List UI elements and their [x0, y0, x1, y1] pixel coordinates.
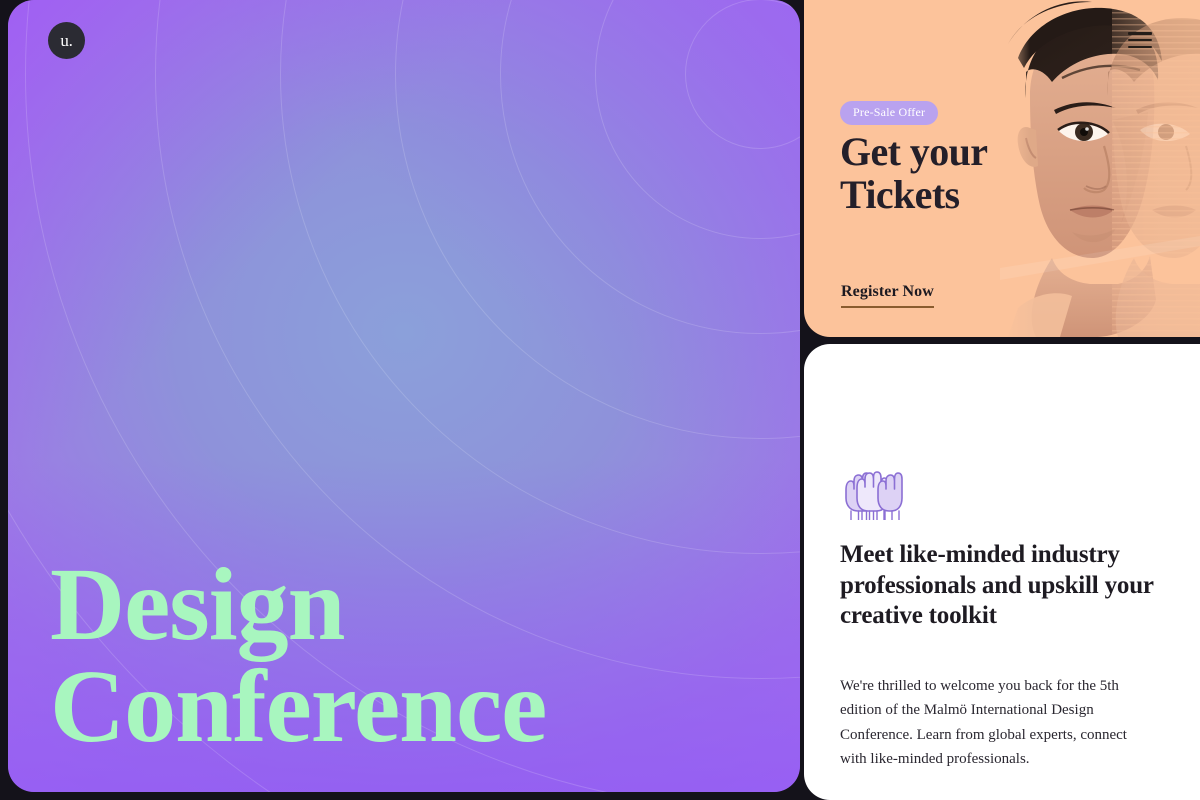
hamburger-line-2	[1128, 39, 1152, 42]
brand-monogram-icon: u.	[60, 31, 72, 51]
hamburger-menu-icon[interactable]	[1128, 32, 1152, 48]
ring-4	[395, 0, 800, 439]
right-column: Pre-Sale Offer Get your Tickets Register…	[804, 0, 1200, 800]
hero-panel: u. Design Conference	[8, 0, 800, 792]
info-card: Meet like-minded industry professionals …	[804, 344, 1200, 800]
hamburger-line-3	[1128, 46, 1152, 49]
register-now-link[interactable]: Register Now	[841, 283, 934, 308]
hamburger-line-1	[1128, 32, 1152, 35]
page-canvas: u. Design Conference	[0, 0, 1200, 800]
info-heading: Meet like-minded industry professionals …	[840, 540, 1160, 632]
info-body-text: We're thrilled to welcome you back for t…	[840, 674, 1152, 771]
tickets-card: Pre-Sale Offer Get your Tickets Register…	[804, 0, 1200, 337]
ring-1	[685, 0, 800, 149]
brand-logo[interactable]: u.	[48, 22, 85, 59]
ring-3	[500, 0, 800, 334]
hero-title-line-1: Design	[50, 554, 546, 656]
hero-title-line-2: Conference	[50, 656, 546, 758]
ring-5	[280, 0, 800, 554]
status-badge: Pre-Sale Offer	[840, 101, 938, 125]
portrait-image	[1000, 0, 1200, 337]
page-title: Design Conference	[50, 554, 546, 758]
tickets-heading-line-1: Get your	[840, 130, 987, 173]
tickets-heading-line-2: Tickets	[840, 173, 987, 216]
tickets-heading: Get your Tickets	[840, 130, 987, 216]
ring-2	[595, 0, 800, 239]
raised-hands-icon	[840, 464, 906, 525]
